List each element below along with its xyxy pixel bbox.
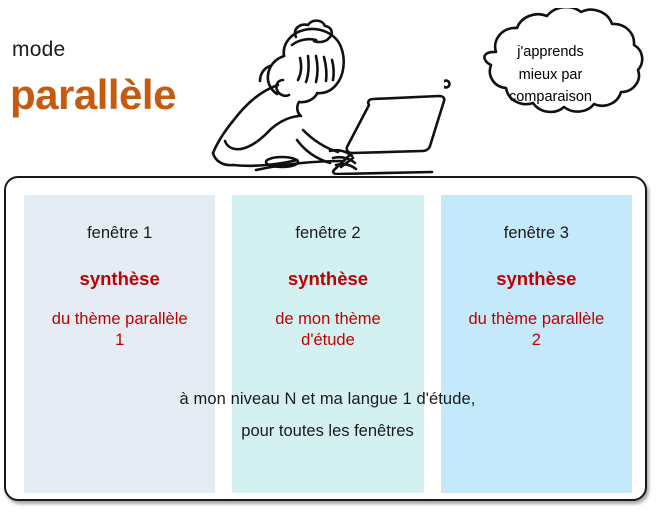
- student-at-laptop-icon: [200, 0, 460, 175]
- theme-label-1: du thème parallèle 1: [52, 309, 188, 351]
- theme-label-3: du thème parallèle 2: [468, 309, 604, 351]
- window-label-2: fenêtre 2: [295, 225, 360, 242]
- mode-title: parallèle: [10, 71, 176, 119]
- synthesis-label-2: synthèse: [288, 270, 368, 289]
- theme-label-2: de mon thème d'étude: [275, 309, 380, 351]
- parallel-mode-panel: fenêtre 1 synthèse du thème parallèle 1 …: [4, 176, 647, 501]
- window-column-2[interactable]: fenêtre 2 synthèse de mon thème d'étude: [232, 195, 423, 493]
- mode-label: mode: [12, 38, 65, 62]
- synthesis-label-3: synthèse: [496, 270, 576, 289]
- thought-bubble: j'apprends mieux par comparaison: [444, 8, 657, 138]
- synthesis-label-1: synthèse: [80, 270, 160, 289]
- window-columns: fenêtre 1 synthèse du thème parallèle 1 …: [24, 195, 632, 493]
- window-label-3: fenêtre 3: [504, 225, 569, 242]
- window-label-1: fenêtre 1: [87, 225, 152, 242]
- window-column-1[interactable]: fenêtre 1 synthèse du thème parallèle 1: [24, 195, 215, 493]
- window-column-3[interactable]: fenêtre 3 synthèse du thème parallèle 2: [441, 195, 632, 493]
